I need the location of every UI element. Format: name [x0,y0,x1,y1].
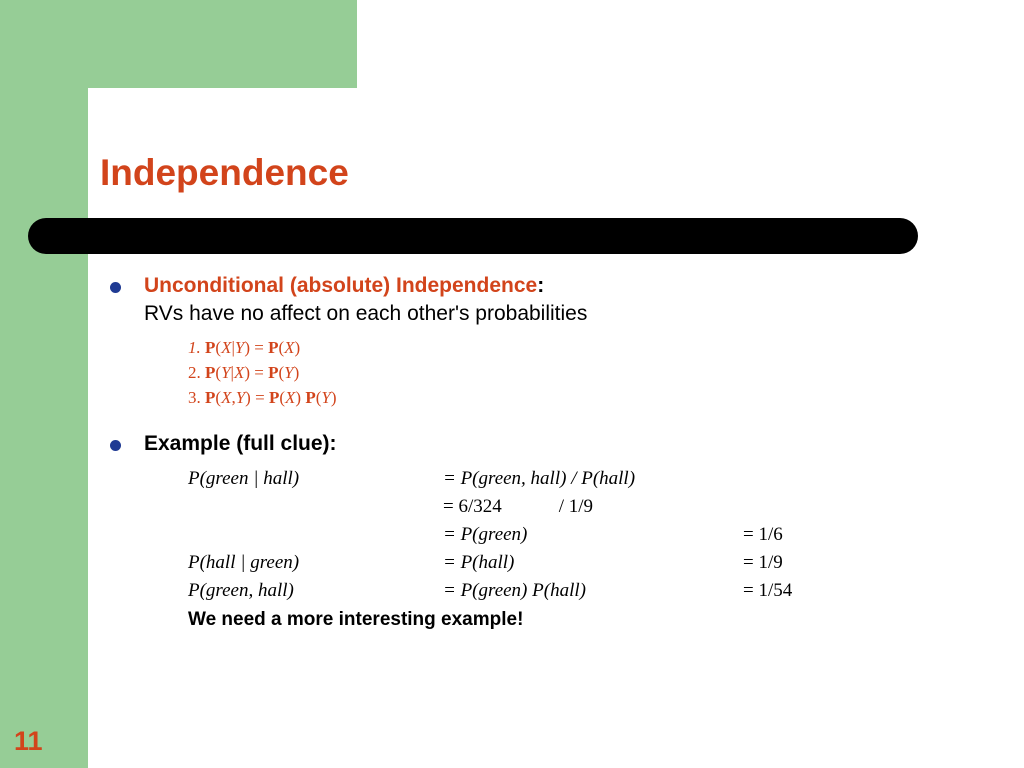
page-title: Independence [100,152,349,194]
bullet-heading-tail: : [537,274,544,297]
example-cell-right: = 1/9 [743,549,783,577]
equation-index-1: 1. [188,338,201,357]
equation-index-2: 2. [188,363,201,382]
example-heading: Example (full clue): [144,430,934,458]
example-cell-middle: = P(green, hall) / P(hall) [443,465,743,493]
example-cell-middle: = P(green) P(hall) [443,577,743,605]
example-row: P(green | hall) = P(green, hall) / P(hal… [188,465,934,493]
slide: Independence 11 Unconditional (absolute)… [0,0,1024,768]
equation-line-3: 3. P(X,Y) = P(X) P(Y) [188,385,934,410]
bullet-item-example: Example (full clue): P(green | hall) = P… [104,430,934,631]
title-underline-bar [28,218,918,254]
example-cell-left [188,521,443,549]
equation-list: 1. P(X|Y) = P(X) 2. P(Y|X) = P(Y) 3. P(X… [188,335,934,410]
page-number: 11 [14,726,43,757]
example-cell-middle: = P(hall) [443,549,743,577]
slide-content: Unconditional (absolute) Independence: R… [104,272,934,633]
example-table: P(green | hall) = P(green, hall) / P(hal… [188,465,934,632]
bullet-dot-icon [110,282,121,293]
example-row: P(hall | green) = P(hall) = 1/9 [188,549,934,577]
equation-line-1: 1. P(X|Y) = P(X) [188,335,934,360]
bullet-heading-highlight: Unconditional (absolute) Independence [144,274,537,297]
example-cell-left: P(hall | green) [188,549,443,577]
example-cell-middle: = P(green) [443,521,743,549]
example-cell-right: = 1/54 [743,577,792,605]
example-row: P(green, hall) = P(green) P(hall) = 1/54 [188,577,934,605]
bullet-dot-icon [110,440,121,451]
bullet-subtitle: RVs have no affect on each other's proba… [144,300,934,328]
example-final-note: We need a more interesting example! [188,609,934,631]
example-cell-middle: = 6/324 / 1/9 [443,493,743,521]
spacer [104,412,934,430]
example-cell-right: = 1/6 [743,521,783,549]
example-row: = 6/324 / 1/9 [188,493,934,521]
equation-index-3: 3. [188,388,201,407]
example-cell-left [188,493,443,521]
example-cell-left: P(green, hall) [188,577,443,605]
equation-line-2: 2. P(Y|X) = P(Y) [188,360,934,385]
green-top-panel [0,0,357,88]
bullet-item-unconditional-independence: Unconditional (absolute) Independence: R… [104,272,934,410]
white-rounded-corner [88,88,357,148]
bullet-heading: Unconditional (absolute) Independence: [144,272,934,300]
example-cell-left: P(green | hall) [188,465,443,493]
example-row: = P(green) = 1/6 [188,521,934,549]
green-left-panel [0,88,88,768]
